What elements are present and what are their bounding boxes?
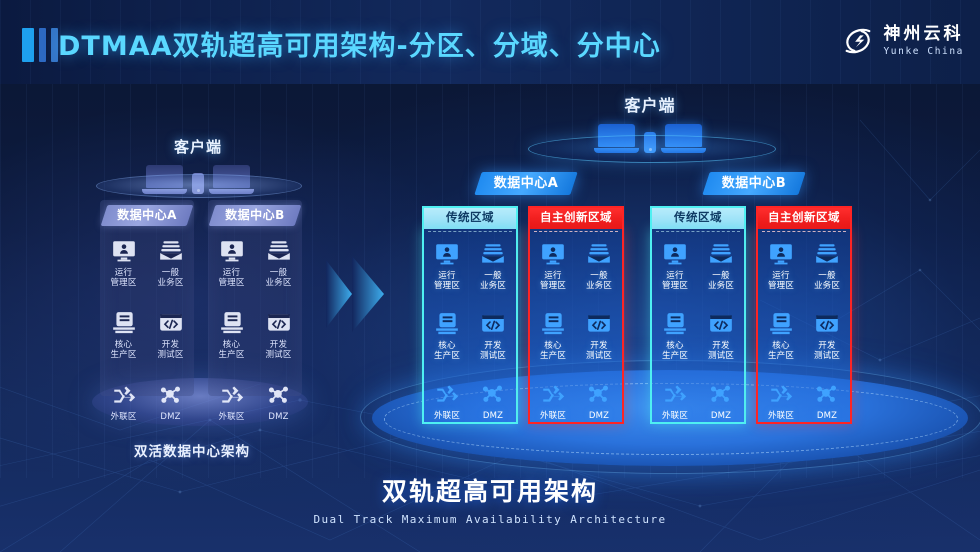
left-client-platform bbox=[96, 174, 302, 198]
zone-label: 开发测试区 bbox=[814, 341, 840, 361]
zone-label: 核心生产区 bbox=[540, 341, 566, 361]
zone-label: 一般业务区 bbox=[265, 268, 291, 288]
zone-grid: 运行管理区 一般业务区 核心生产区 开发测试区 外联区 bbox=[424, 241, 516, 421]
left-dc-badge-a: 数据中心A bbox=[101, 205, 194, 226]
zone-label: 运行管理区 bbox=[540, 271, 566, 291]
code-window-icon bbox=[586, 311, 612, 337]
zone-cell: 外联区 bbox=[424, 381, 470, 421]
zone-cell: 一般业务区 bbox=[255, 238, 302, 288]
left-diagram-caption: 双活数据中心架构 bbox=[134, 440, 250, 460]
zone-label: 开发测试区 bbox=[708, 341, 734, 361]
tray-stack-icon bbox=[266, 238, 292, 264]
molecule-node-icon bbox=[708, 381, 734, 407]
zone-label: DMZ bbox=[160, 412, 180, 422]
server-database-icon bbox=[434, 311, 460, 337]
server-database-icon bbox=[111, 310, 137, 336]
zone-cell: DMZ bbox=[470, 381, 516, 421]
zone-label: 运行管理区 bbox=[218, 268, 244, 288]
zone-cell: 一般业务区 bbox=[804, 241, 850, 291]
logo-text-en: Yunke China bbox=[883, 47, 964, 57]
zone-cell: 一般业务区 bbox=[576, 241, 622, 291]
zone-label: 一般业务区 bbox=[586, 271, 612, 291]
zone-label: DMZ bbox=[817, 411, 837, 421]
zone-grid: 运行管理区 一般业务区 核心生产区 开发测试区 外联区 bbox=[758, 241, 850, 421]
zone-cell: 运行管理区 bbox=[100, 238, 147, 288]
zone-cell: 开发测试区 bbox=[576, 311, 622, 361]
zone-cell: 核心生产区 bbox=[652, 311, 698, 361]
brand-logo: 神州云科 Yunke China bbox=[841, 24, 964, 58]
zone-cell: 运行管理区 bbox=[208, 238, 255, 288]
zone-cell: DMZ bbox=[147, 382, 194, 422]
caption-en: Dual Track Maximum Availability Architec… bbox=[0, 513, 980, 526]
zone-label: 开发测试区 bbox=[265, 340, 291, 360]
zone-label: DMZ bbox=[711, 411, 731, 421]
code-window-icon bbox=[266, 310, 292, 336]
zone-cell: 运行管理区 bbox=[652, 241, 698, 291]
panel-title: 自主创新区域 bbox=[756, 206, 852, 229]
panel-title: 自主创新区域 bbox=[528, 206, 624, 229]
right-client-platform bbox=[528, 135, 776, 163]
crossing-arrows-icon bbox=[540, 381, 566, 407]
zone-label: 开发测试区 bbox=[586, 341, 612, 361]
zone-label: 一般业务区 bbox=[480, 271, 506, 291]
panel-title: 传统区域 bbox=[650, 206, 746, 229]
zone-cell: DMZ bbox=[255, 382, 302, 422]
molecule-node-icon bbox=[266, 382, 292, 408]
zone-cell: 开发测试区 bbox=[470, 311, 516, 361]
crossing-arrows-icon bbox=[662, 381, 688, 407]
left-client-label: 客户端 bbox=[118, 136, 278, 157]
zone-cell: 运行管理区 bbox=[758, 241, 804, 291]
server-database-icon bbox=[540, 311, 566, 337]
zone-label: 一般业务区 bbox=[814, 271, 840, 291]
zone-label: DMZ bbox=[268, 412, 288, 422]
swirl-galaxy-logo-icon bbox=[841, 24, 875, 58]
left-dc-badge-b: 数据中心B bbox=[209, 205, 302, 226]
molecule-node-icon bbox=[586, 381, 612, 407]
zone-cell: 运行管理区 bbox=[424, 241, 470, 291]
tray-stack-icon bbox=[708, 241, 734, 267]
zone-label: 外联区 bbox=[540, 411, 566, 421]
code-window-icon bbox=[480, 311, 506, 337]
server-database-icon bbox=[662, 311, 688, 337]
zone-cell: 一般业务区 bbox=[470, 241, 516, 291]
right-dc-badge-b: 数据中心B bbox=[702, 172, 805, 195]
caption-cn: 双轨超高可用架构 bbox=[0, 472, 980, 508]
left-dc-a-zone-grid: 运行管理区 一般业务区 核心生产区 开发测试区 外联区 DMZ bbox=[100, 238, 194, 422]
left-dc-b-zone-grid: 运行管理区 一般业务区 核心生产区 开发测试区 外联区 DMZ bbox=[208, 238, 302, 422]
molecule-node-icon bbox=[158, 382, 184, 408]
zone-cell: 一般业务区 bbox=[698, 241, 744, 291]
zone-cell: DMZ bbox=[698, 381, 744, 421]
slide-canvas: DTMAA双轨超高可用架构-分区、分域、分中心 神州云科 Yunke China… bbox=[0, 0, 980, 552]
zone-label: 外联区 bbox=[434, 411, 460, 421]
zone-cell: 核心生产区 bbox=[100, 310, 147, 360]
monitor-user-icon bbox=[662, 241, 688, 267]
server-database-icon bbox=[768, 311, 794, 337]
zone-label: 核心生产区 bbox=[110, 340, 136, 360]
zone-label: 核心生产区 bbox=[662, 341, 688, 361]
double-chevron-right-icon bbox=[322, 252, 392, 336]
zone-cell: 外联区 bbox=[208, 382, 255, 422]
zone-cell: 核心生产区 bbox=[424, 311, 470, 361]
right-diagram-caption: 双轨超高可用架构 Dual Track Maximum Availability… bbox=[0, 472, 980, 526]
right-dc-badge-a: 数据中心A bbox=[474, 172, 577, 195]
crossing-arrows-icon bbox=[768, 381, 794, 407]
zone-cell: 外联区 bbox=[758, 381, 804, 421]
zone-label: 运行管理区 bbox=[110, 268, 136, 288]
zone-cell: 核心生产区 bbox=[208, 310, 255, 360]
zone-cell: 核心生产区 bbox=[530, 311, 576, 361]
molecule-node-icon bbox=[814, 381, 840, 407]
monitor-user-icon bbox=[219, 238, 245, 264]
zone-label: DMZ bbox=[483, 411, 503, 421]
zone-cell: 开发测试区 bbox=[804, 311, 850, 361]
zone-label: 开发测试区 bbox=[157, 340, 183, 360]
zone-label: 外联区 bbox=[110, 412, 136, 422]
zone-cell: 运行管理区 bbox=[530, 241, 576, 291]
zone-label: 核心生产区 bbox=[434, 341, 460, 361]
zone-cell: 一般业务区 bbox=[147, 238, 194, 288]
molecule-node-icon bbox=[480, 381, 506, 407]
tray-stack-icon bbox=[586, 241, 612, 267]
dc-a-innovation-panel: 自主创新区域 运行管理区 一般业务区 核心生产区 开发测试区 bbox=[528, 206, 624, 424]
zone-cell: 开发测试区 bbox=[698, 311, 744, 361]
zone-label: 外联区 bbox=[768, 411, 794, 421]
dc-b-innovation-panel: 自主创新区域 运行管理区 一般业务区 核心生产区 开发测试区 bbox=[756, 206, 852, 424]
right-client-label: 客户端 bbox=[560, 92, 740, 116]
page-title: DTMAA双轨超高可用架构-分区、分域、分中心 bbox=[58, 24, 661, 63]
zone-label: 外联区 bbox=[662, 411, 688, 421]
crossing-arrows-icon bbox=[219, 382, 245, 408]
logo-text-cn: 神州云科 bbox=[883, 26, 964, 43]
zone-label: 运行管理区 bbox=[768, 271, 794, 291]
tray-stack-icon bbox=[480, 241, 506, 267]
zone-cell: DMZ bbox=[576, 381, 622, 421]
zone-label: 外联区 bbox=[218, 412, 244, 422]
zone-cell: 开发测试区 bbox=[255, 310, 302, 360]
three-vertical-bars-icon bbox=[22, 28, 58, 62]
monitor-user-icon bbox=[111, 238, 137, 264]
tray-stack-icon bbox=[158, 238, 184, 264]
zone-cell: DMZ bbox=[804, 381, 850, 421]
zone-cell: 外联区 bbox=[100, 382, 147, 422]
zone-cell: 开发测试区 bbox=[147, 310, 194, 360]
crossing-arrows-icon bbox=[434, 381, 460, 407]
slide-header: DTMAA双轨超高可用架构-分区、分域、分中心 神州云科 Yunke China bbox=[0, 0, 980, 84]
monitor-user-icon bbox=[768, 241, 794, 267]
zone-label: 开发测试区 bbox=[480, 341, 506, 361]
zone-grid: 运行管理区 一般业务区 核心生产区 开发测试区 外联区 bbox=[652, 241, 744, 421]
zone-cell: 外联区 bbox=[652, 381, 698, 421]
zone-cell: 核心生产区 bbox=[758, 311, 804, 361]
monitor-user-icon bbox=[434, 241, 460, 267]
code-window-icon bbox=[814, 311, 840, 337]
monitor-user-icon bbox=[540, 241, 566, 267]
tray-stack-icon bbox=[814, 241, 840, 267]
dc-a-traditional-panel: 传统区域 运行管理区 一般业务区 核心生产区 开发测试区 bbox=[422, 206, 518, 424]
zone-grid: 运行管理区 一般业务区 核心生产区 开发测试区 外联区 bbox=[530, 241, 622, 421]
zone-cell: 外联区 bbox=[530, 381, 576, 421]
zone-label: DMZ bbox=[589, 411, 609, 421]
code-window-icon bbox=[158, 310, 184, 336]
dc-b-traditional-panel: 传统区域 运行管理区 一般业务区 核心生产区 开发测试区 bbox=[650, 206, 746, 424]
zone-label: 核心生产区 bbox=[218, 340, 244, 360]
panel-title: 传统区域 bbox=[422, 206, 518, 229]
crossing-arrows-icon bbox=[111, 382, 137, 408]
zone-label: 运行管理区 bbox=[434, 271, 460, 291]
code-window-icon bbox=[708, 311, 734, 337]
server-database-icon bbox=[219, 310, 245, 336]
zone-label: 一般业务区 bbox=[708, 271, 734, 291]
zone-label: 运行管理区 bbox=[662, 271, 688, 291]
zone-label: 核心生产区 bbox=[768, 341, 794, 361]
zone-label: 一般业务区 bbox=[157, 268, 183, 288]
